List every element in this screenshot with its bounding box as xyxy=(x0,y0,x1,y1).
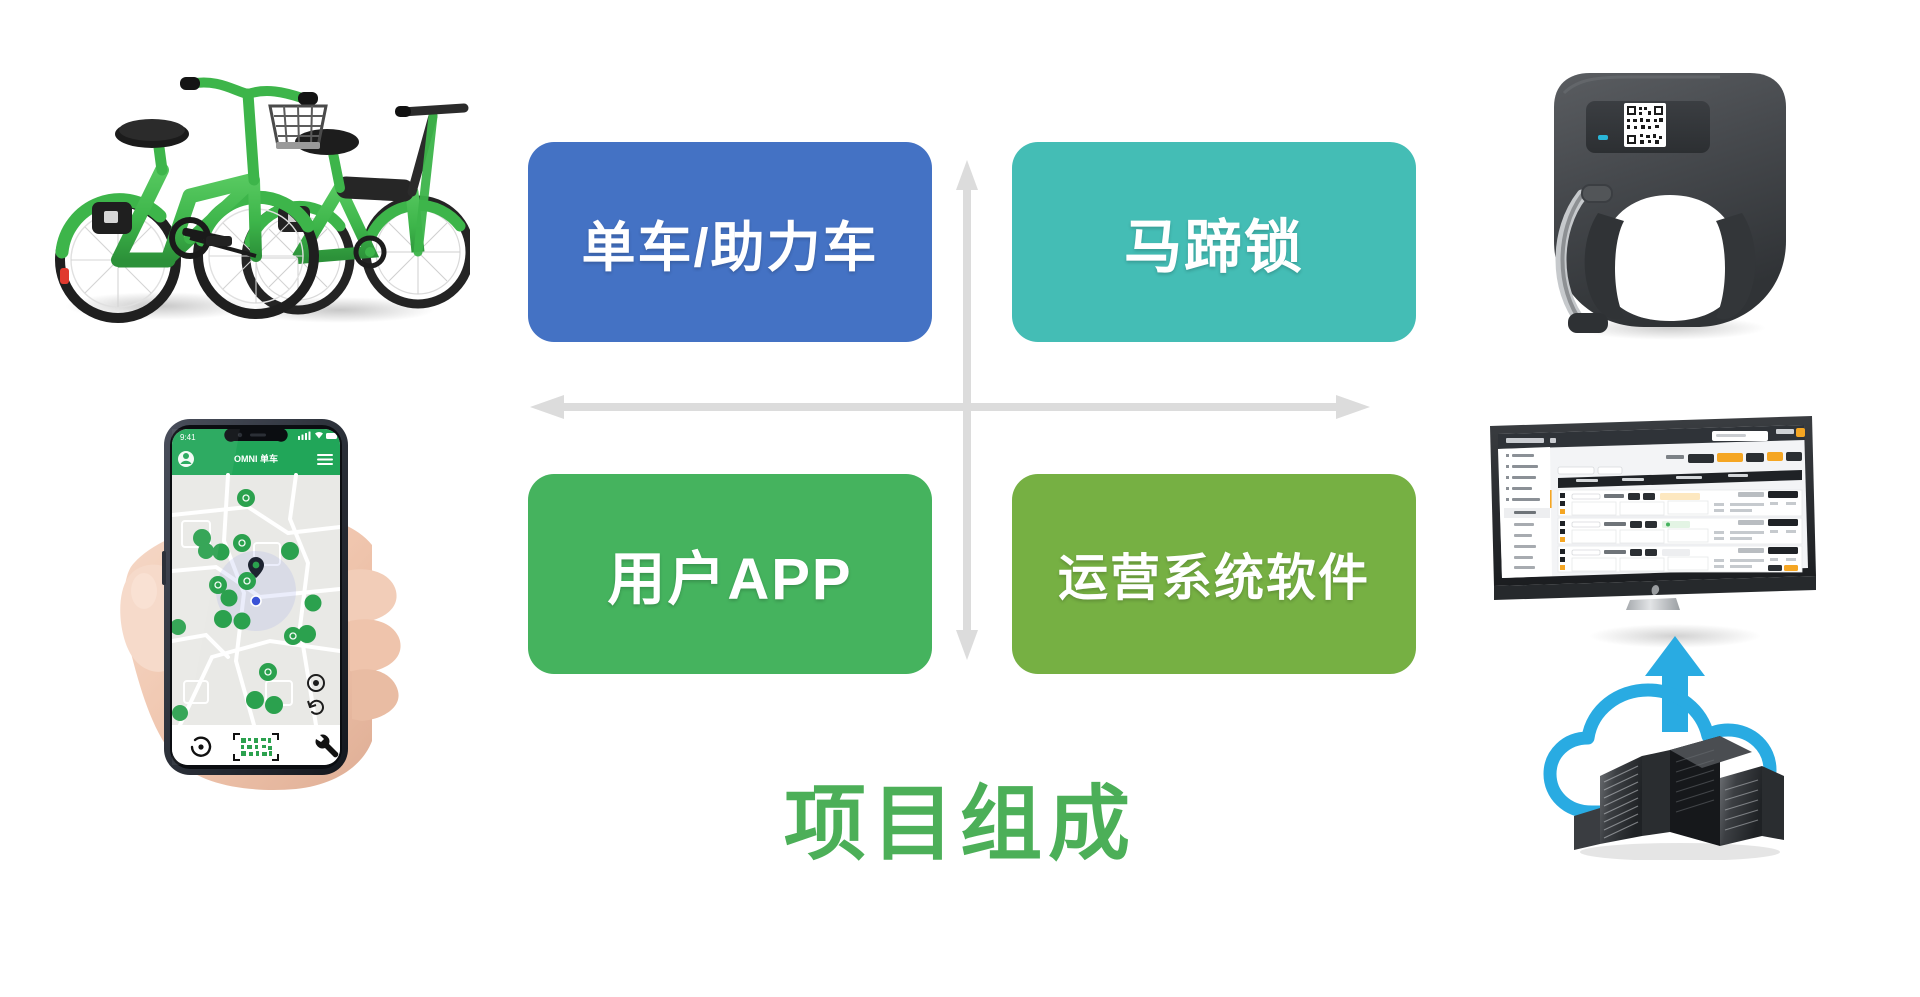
quadrant-card-lock[interactable]: 马蹄锁 xyxy=(1012,142,1416,342)
operations-dashboard-photo xyxy=(1480,410,1820,610)
quadrant-card-app-label: 用户APP xyxy=(607,532,852,616)
bike-smart-lock xyxy=(92,202,132,234)
server-racks xyxy=(1574,736,1784,850)
quadrant-card-bike-label: 单车/助力车 xyxy=(581,203,878,282)
citybike-illustration xyxy=(60,77,326,318)
dashboard-row-group xyxy=(1558,518,1802,544)
phone-app-title: OMNI 单车 xyxy=(234,453,278,464)
dashboard-row-group xyxy=(1558,490,1802,516)
horizontal-double-arrow xyxy=(530,395,1370,419)
phone-in-hand-photo: 9:41 OMNI 单车 xyxy=(120,395,450,795)
bicycles-photo xyxy=(40,20,470,330)
dashboard-filters xyxy=(1558,467,1622,474)
lock-led-indicator xyxy=(1598,135,1608,140)
quadrant-card-system-label: 运营系统软件 xyxy=(1058,538,1370,610)
quadrant-card-app[interactable]: 用户APP xyxy=(528,474,932,674)
quadrant-card-lock-label: 马蹄锁 xyxy=(1124,200,1304,284)
dashboard-row-group xyxy=(1558,546,1802,572)
cloud-servers-photo xyxy=(1530,600,1820,860)
quadrant-card-bike[interactable]: 单车/助力车 xyxy=(528,142,932,342)
lock-qr-panel xyxy=(1586,101,1710,153)
smart-lock-photo xyxy=(1520,45,1820,340)
infographic-canvas: 9:41 OMNI 单车 xyxy=(0,0,1920,997)
quadrant-card-system[interactable]: 运营系统软件 xyxy=(1012,474,1416,674)
bike-basket xyxy=(270,106,326,149)
